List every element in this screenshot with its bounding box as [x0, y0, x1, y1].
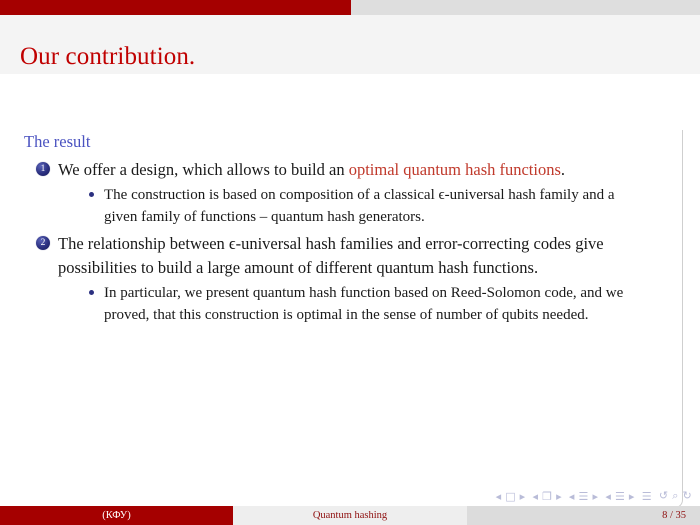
bullet-dot-icon: [89, 290, 94, 295]
footer-title: Quantum hashing: [233, 506, 467, 525]
nav-presentation-icon[interactable]: ☰: [642, 490, 652, 503]
block-title: The result: [24, 132, 90, 152]
nav-subsection-icon[interactable]: ◂ ☰ ▸: [569, 490, 598, 503]
sub-list: The construction is based on composition…: [58, 184, 678, 228]
nav-slide-icon[interactable]: ◂ □ ▸: [496, 490, 526, 503]
page-title: Our contribution.: [20, 43, 195, 71]
sub-list: In particular, we present quantum hash f…: [58, 282, 678, 326]
list-item: 1 We offer a design, which allows to bui…: [0, 158, 700, 228]
list-item-highlight: optimal quantum hash functions: [349, 160, 561, 179]
sub-list-item-text: The construction is based on composition…: [104, 187, 615, 225]
header-accent-bar: [0, 0, 351, 15]
bullet-dot-icon: [89, 192, 94, 197]
list-item-text: The relationship between ϵ-universal has…: [58, 234, 604, 278]
footer-author: (КФУ): [0, 506, 233, 525]
enum-marker-icon: 2: [36, 236, 50, 250]
header-bar: [0, 0, 700, 15]
list-item-text-tail: .: [561, 160, 565, 179]
enum-marker-icon: 1: [36, 162, 50, 176]
enumerated-list: 1 We offer a design, which allows to bui…: [0, 158, 700, 326]
sub-list-item-text: In particular, we present quantum hash f…: [104, 285, 623, 323]
footer: (КФУ) Quantum hashing 8 / 35: [0, 506, 700, 525]
list-item-text: We offer a design, which allows to build…: [58, 160, 349, 179]
sub-list-item: The construction is based on composition…: [58, 184, 678, 228]
list-item: 2 The relationship between ϵ-universal h…: [0, 232, 700, 326]
nav-back-find-forward-icon[interactable]: ↺ ⌕ ↻: [659, 489, 692, 503]
title-bar: Our contribution.: [0, 15, 700, 74]
nav-section-icon[interactable]: ◂ ☰ ▸: [605, 490, 634, 503]
slide-content: The result 1 We offer a design, which al…: [0, 74, 700, 474]
sub-list-item: In particular, we present quantum hash f…: [58, 282, 678, 326]
nav-frame-icon[interactable]: ◂ ❐ ▸: [533, 490, 562, 503]
beamer-navigation-symbols[interactable]: ◂ □ ▸ ◂ ❐ ▸ ◂ ☰ ▸ ◂ ☰ ▸ ☰ ↺ ⌕ ↻: [496, 489, 692, 503]
footer-page-number: 8 / 35: [467, 506, 700, 525]
